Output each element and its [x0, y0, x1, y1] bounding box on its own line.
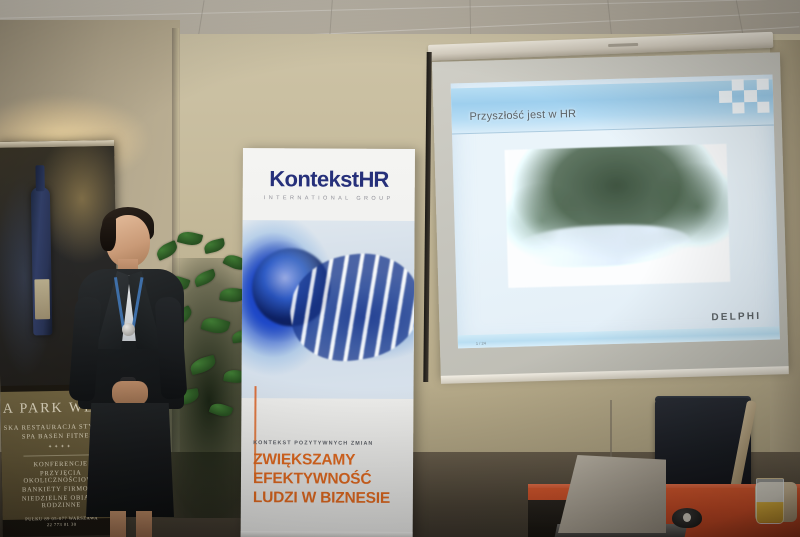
- presenter-leg-right: [136, 511, 152, 537]
- delphi-logo: DELPHI: [711, 311, 761, 323]
- slide-photo: [504, 144, 730, 288]
- banner-logo-hr: HR: [359, 167, 389, 192]
- bottle-label: [34, 279, 50, 319]
- mouse-highlight: [683, 513, 691, 522]
- presenter: [60, 205, 210, 537]
- presenter-skirt: [86, 403, 174, 517]
- slide-photo-road: [515, 223, 691, 270]
- presenter-hands: [112, 381, 148, 405]
- projection-screen: Przyszłość jest w HR DELPHI 1 / 24: [432, 52, 789, 378]
- wall-cable: [610, 400, 612, 462]
- housing-vent: [608, 43, 638, 47]
- drinking-glass-right: [756, 478, 784, 524]
- rollup-banner: KontekstHR INTERNATIONAL GROUP KONTEKST …: [241, 148, 415, 537]
- necklace-pendant: [122, 323, 135, 336]
- banner-message: KONTEKST POZYTYWNYCH ZMIAN ZWIĘKSZAMY EF…: [253, 440, 403, 509]
- conference-room-scene: Przyszłość jest w HR DELPHI 1 / 24 A PAR…: [0, 0, 800, 537]
- banner-headline-line3: LUDZI W BIZNESIE: [253, 489, 403, 509]
- wine-bottle-icon: [31, 187, 53, 335]
- banner-logo-text: KontekstHR: [243, 166, 415, 193]
- banner-artwork: [241, 220, 414, 399]
- presenter-leg-left: [110, 511, 126, 537]
- banner-kicker: KONTEKST POZYTYWNYCH ZMIAN: [253, 440, 403, 447]
- banner-headline-line2: EFEKTYWNOŚĆ: [253, 470, 403, 490]
- slide-page-number: 1 / 24: [476, 341, 486, 346]
- banner-base: [241, 531, 413, 537]
- slide-footer-band: [458, 326, 780, 348]
- banner-logo-tagline: INTERNATIONAL GROUP: [243, 195, 415, 202]
- banner-headline: ZWIĘKSZAMY EFEKTYWNOŚĆ LUDZI W BIZNESIE: [253, 451, 403, 509]
- banner-headline-line1: ZWIĘKSZAMY: [253, 451, 403, 471]
- presenter-hair-side: [100, 217, 116, 251]
- checkerboard-decoration: [719, 79, 770, 114]
- projected-slide: Przyszłość jest w HR DELPHI 1 / 24: [451, 74, 780, 348]
- banner-logo: KontekstHR INTERNATIONAL GROUP: [243, 166, 415, 202]
- banner-logo-name: Kontekst: [269, 166, 358, 192]
